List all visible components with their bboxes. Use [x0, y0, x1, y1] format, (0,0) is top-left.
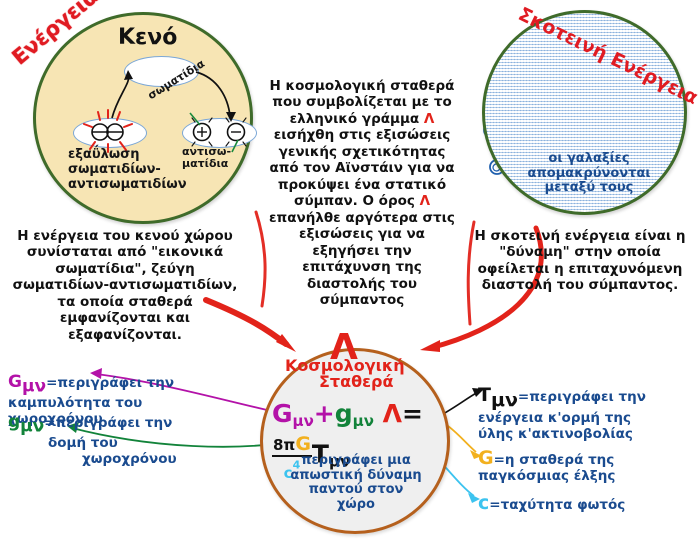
- lambda-title-line2: Σταθερά: [319, 374, 393, 390]
- vacuum-ellipse-annihilation: [73, 118, 147, 148]
- lambda-note-line4: χώρο: [337, 497, 375, 512]
- galaxies-note-line2: μεταξύ τους: [545, 180, 634, 195]
- annotation-metric-line2: δομή του: [48, 436, 118, 452]
- annotation-metric-tensor: gμν=περιγράφει την δομή του χωροχρόνου: [8, 412, 223, 468]
- annotation-speed-of-light: c=ταχύτητα φωτός: [478, 492, 696, 514]
- annihilation-label: εξαΰλωση σωματιδίων- αντισωματιδίων: [68, 148, 208, 193]
- eq-lambda: Λ: [383, 399, 402, 428]
- lambda-note-line3: παντού στον: [309, 482, 404, 497]
- annotation-metric-symbol: g: [8, 412, 20, 432]
- description-part3: επανήλθε αργότερα στις εξισώσεις για να …: [269, 210, 455, 308]
- eq-plus: +: [314, 399, 335, 428]
- lambda-inline-2: Λ: [420, 193, 430, 209]
- annotation-stress-energy-tensor: Tμν=περιγράφει την ενέργεια κ'ορμή της ύ…: [478, 384, 696, 443]
- annotation-metric-line3: χωροχρόνου: [82, 452, 177, 468]
- vacuum-inner-label: Κενό: [118, 26, 177, 50]
- annotation-gravitational-constant: G=η σταθερά της παγκόσμιας έλξης: [478, 447, 696, 485]
- lambda-note-line2: απωστική δύναμη: [290, 468, 421, 483]
- annotation-c-symbol: c: [478, 492, 489, 514]
- eq-metric-sub: μν: [353, 412, 374, 430]
- dark-energy-caption: Η σκοτεινή ενέργεια είναι η "δύναμη" στη…: [462, 228, 698, 294]
- annihilation-label-line1: εξαΰλωση: [68, 147, 140, 162]
- annotation-tmunu-line1: =περιγράφει την: [518, 389, 646, 405]
- annotation-tmunu-symbol: T: [478, 384, 491, 406]
- vacuum-ellipse-pair: [182, 118, 257, 148]
- annotation-bigG-symbol: G: [478, 447, 494, 469]
- galaxies-note-line1: οι γαλαξίες απομακρύνονται: [528, 151, 651, 181]
- annotation-c-line1: =ταχύτητα φωτός: [489, 497, 625, 513]
- annotation-metric-sub: μν: [20, 416, 44, 436]
- eq-einstein-sub: μν: [293, 412, 314, 430]
- annihilation-label-line3: αντισωματιδίων: [68, 177, 187, 192]
- annotation-gmunu-symbol: G: [8, 372, 22, 392]
- eq-numerator: 8π: [273, 436, 295, 454]
- eq-gravitational-constant: G: [295, 433, 311, 455]
- annotation-gmunu-line1: =περιγράφει την: [46, 375, 174, 391]
- annotation-tmunu-line2: ενέργεια κ'ορμή της: [478, 410, 631, 426]
- einstein-field-equation: Gμν+gμν Λ= 8πG c4 Tμν: [272, 400, 444, 448]
- galaxies-receding-note: οι γαλαξίες απομακρύνονται μεταξύ τους: [494, 152, 684, 196]
- annihilation-label-line2: σωματιδίων-: [68, 162, 161, 177]
- cosmological-constant-description: Η κοσμολογική σταθερά που συμβολίζεται μ…: [268, 78, 456, 309]
- annotation-tmunu-line3: ύλης κ'ακτινοβολίας: [478, 426, 633, 442]
- lambda-note-line1: περιγράφει μια: [301, 453, 411, 468]
- eq-equals: =: [402, 399, 423, 428]
- annotation-bigG-line2: παγκόσμιας έλξης: [478, 468, 615, 484]
- lambda-repulsive-force-note: περιγράφει μια απωστική δύναμη παντού στ…: [268, 454, 444, 512]
- eq-einstein-tensor: G: [272, 399, 293, 428]
- annotation-tmunu-sub: μν: [491, 389, 518, 411]
- annotation-bigG-line1: =η σταθερά της: [494, 452, 615, 468]
- eq-metric-tensor: g: [335, 399, 353, 428]
- annotation-gmunu-sub: μν: [22, 376, 46, 396]
- lambda-inline-1: Λ: [424, 111, 434, 127]
- vacuum-energy-caption: Η ενέργεια του κενού χώρου συνίσταται απ…: [6, 228, 244, 343]
- cosmological-constant-title: Κοσμολογική Σταθερά: [285, 358, 445, 391]
- annotation-metric-line1: =περιγράφει την: [44, 415, 172, 431]
